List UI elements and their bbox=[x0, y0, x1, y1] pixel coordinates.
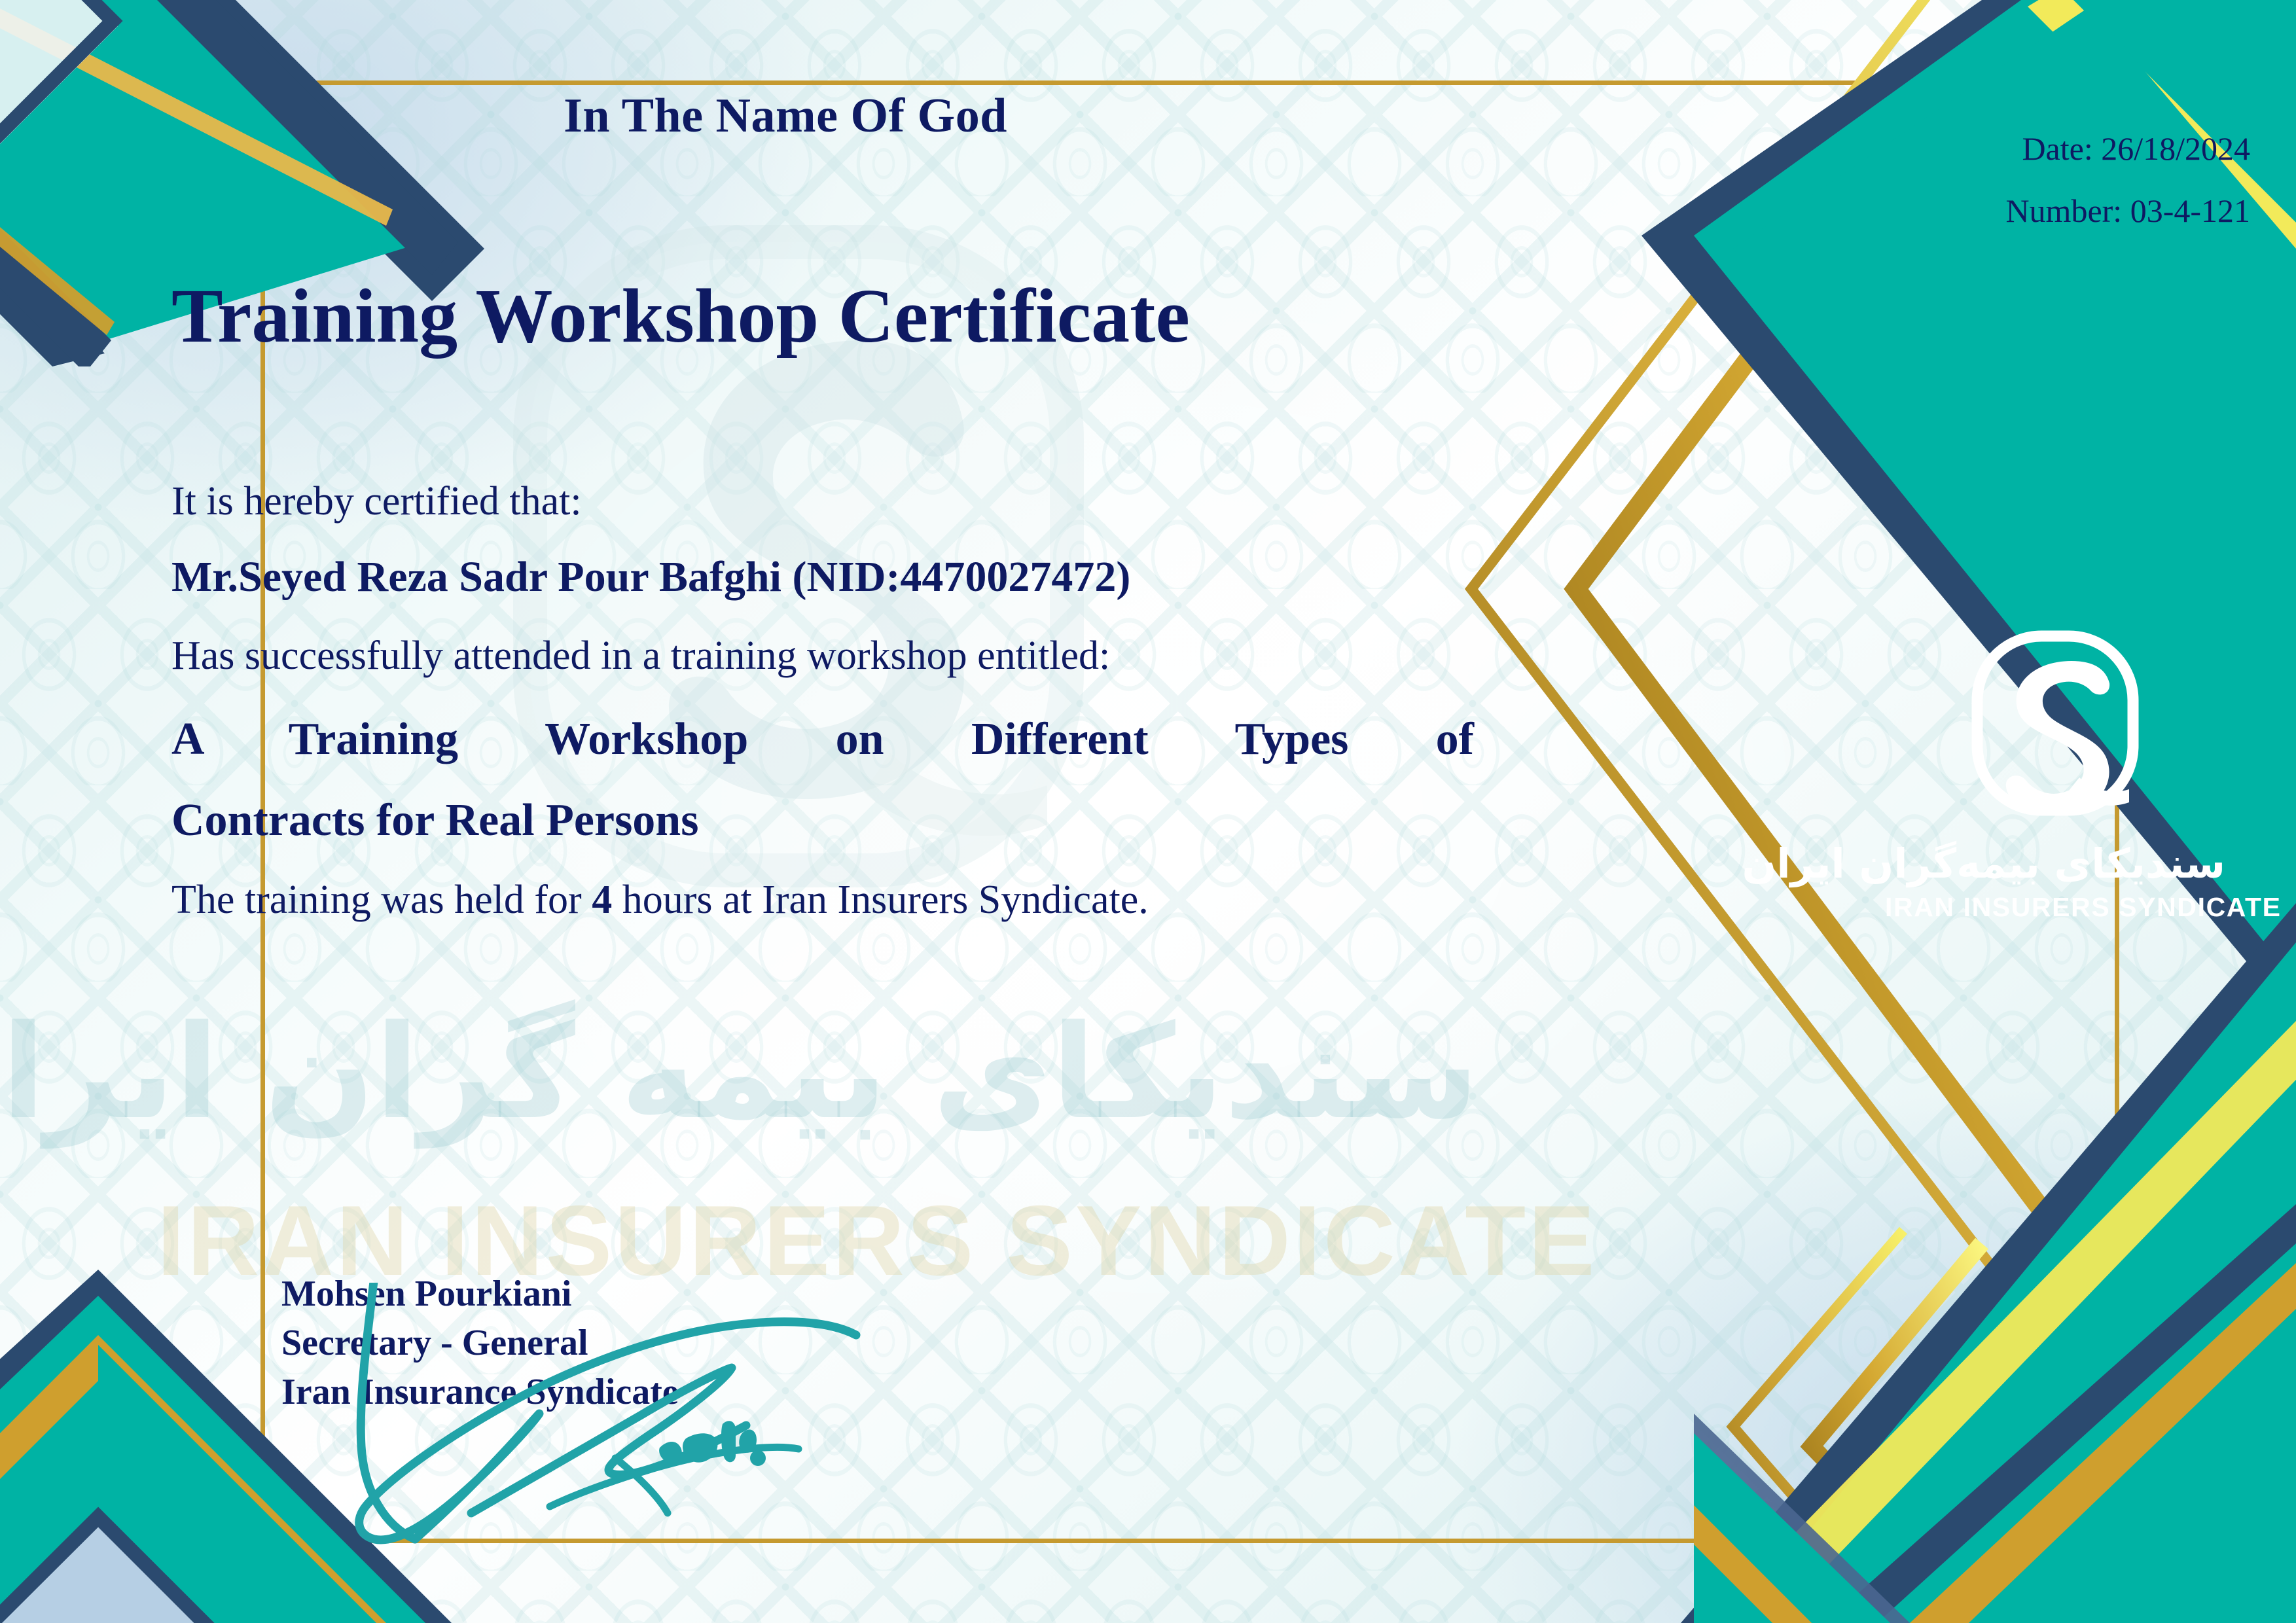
organization-logo: سندیکای بیمه‌گران ایران IRAN INSURERS SY… bbox=[1885, 628, 2225, 923]
attended-line: Has successfully attended in a training … bbox=[171, 635, 1474, 676]
certify-line: It is hereby certified that: bbox=[171, 481, 1474, 522]
certificate-page: سندیکای بیمه گران ایران IRAN INSURERS SY… bbox=[0, 0, 2296, 1623]
logo-name-en: IRAN INSURERS SYNDICATE bbox=[1885, 892, 2225, 923]
recipient-name: Mr.Seyed Reza Sadr Pour Bafghi (NID:4470… bbox=[171, 556, 1474, 599]
certificate-number: Number: 03-4-121 bbox=[1805, 180, 2250, 242]
page-title: Training Workshop Certificate bbox=[171, 272, 1190, 361]
certificate-meta: Date: 26/18/2024 Number: 03-4-121 bbox=[1805, 118, 2250, 242]
workshop-title-line-2: Contracts for Real Persons bbox=[171, 791, 1474, 850]
logo-name-fa: سندیکای بیمه‌گران ایران bbox=[1885, 840, 2225, 887]
signatory-role: Secretary - General bbox=[281, 1319, 679, 1368]
signatory-name: Mohsen Pourkiani bbox=[281, 1270, 679, 1319]
signature-block: Mohsen Pourkiani Secretary - General Ira… bbox=[281, 1270, 679, 1417]
workshop-title-line-1: A Training Workshop on Different Types o… bbox=[171, 710, 1474, 769]
signatory-organization: Iran Insurance Syndicate bbox=[281, 1368, 679, 1417]
in-the-name-of-god-heading: In The Name Of God bbox=[517, 88, 1054, 144]
duration-suffix: hours at Iran Insurers Syndicate. bbox=[612, 878, 1149, 922]
syndicate-mark-icon bbox=[1960, 628, 2150, 818]
duration-hours: 4 bbox=[592, 878, 612, 922]
duration-prefix: The training was held for bbox=[171, 878, 592, 922]
certificate-body: It is hereby certified that: Mr.Seyed Re… bbox=[171, 481, 1474, 920]
issue-date: Date: 26/18/2024 bbox=[1805, 118, 2250, 180]
duration-line: The training was held for 4 hours at Ira… bbox=[171, 880, 1474, 920]
